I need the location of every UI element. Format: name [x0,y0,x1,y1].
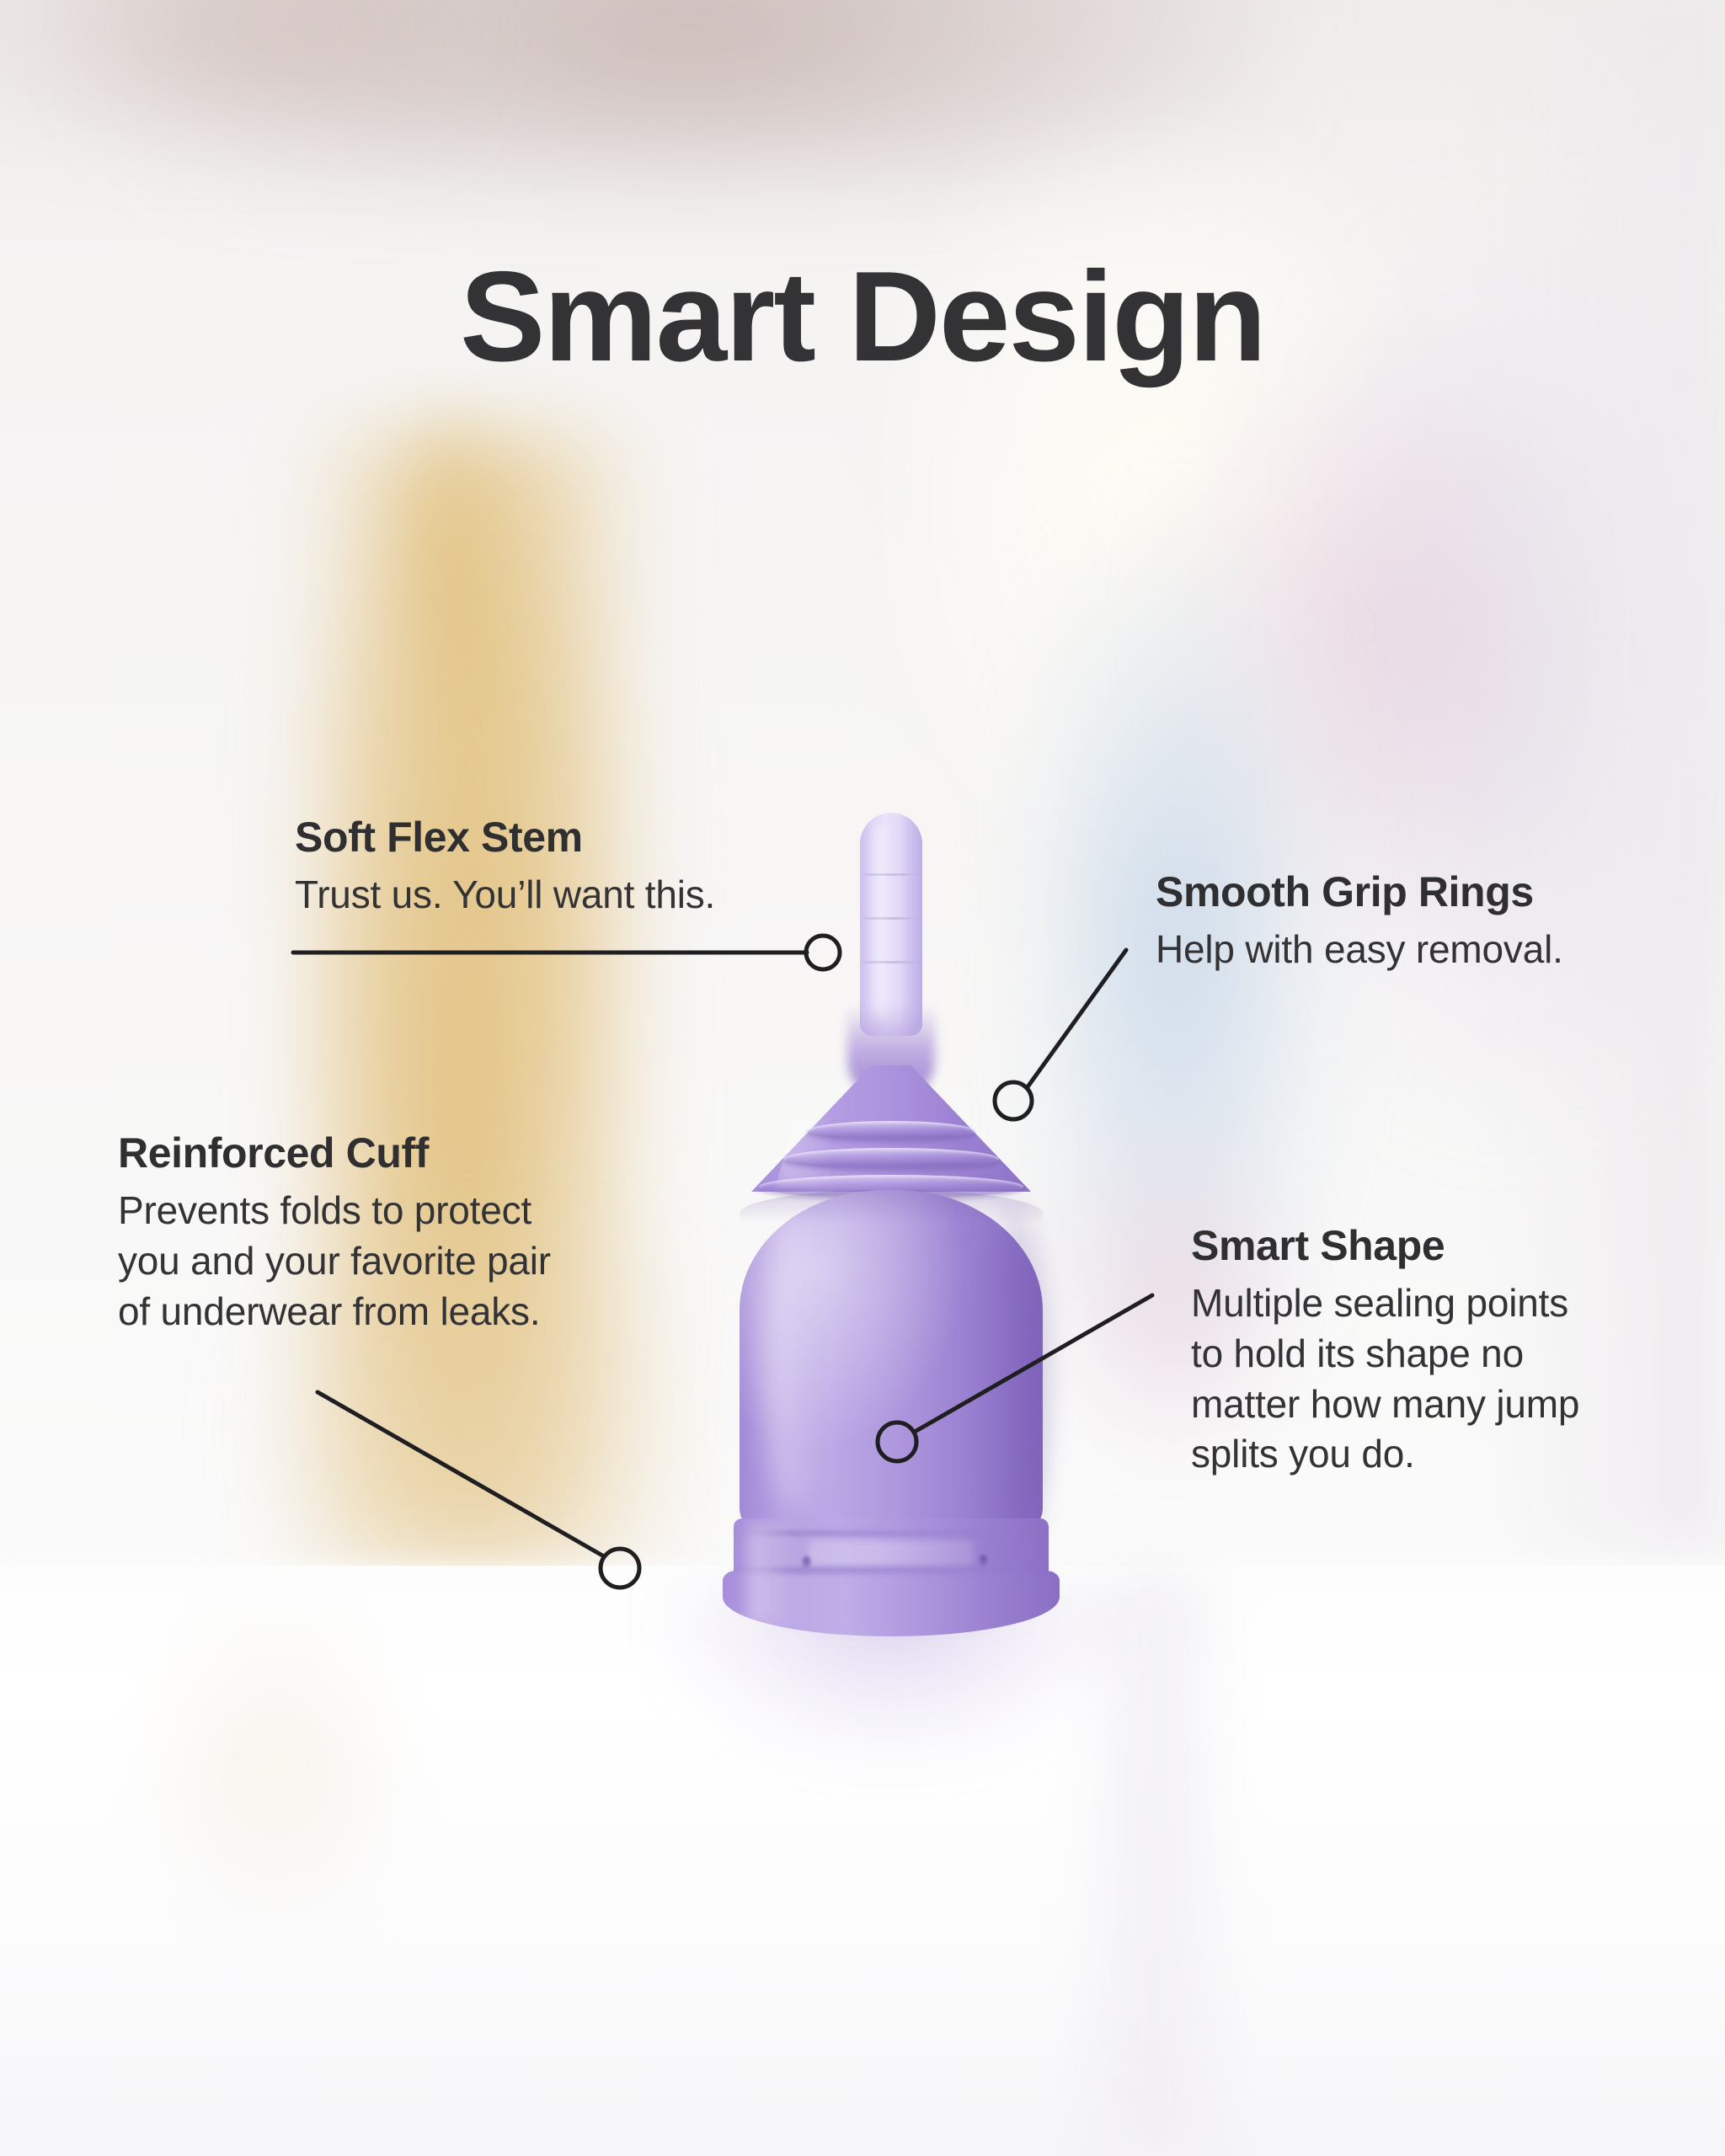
callout-reinforced-cuff: Reinforced Cuff Prevents folds to protec… [118,1129,551,1337]
callout-body-line: splits you do. [1191,1429,1579,1480]
callout-smooth-grip-rings: Smooth Grip Rings Help with easy removal… [1156,867,1563,975]
leader-line-smart-shape [915,1295,1152,1432]
callout-body-line: Help with easy removal. [1156,925,1563,975]
leader-line-smooth-grip-rings [1027,950,1126,1088]
callout-title-soft-flex-stem: Soft Flex Stem [295,813,715,862]
callout-body-reinforced-cuff: Prevents folds to protect you and your f… [118,1186,551,1337]
circle-marker-smooth-grip-rings [995,1082,1032,1119]
callout-body-line: Trust us. You’ll want this. [295,870,715,921]
callout-body-line: of underwear from leaks. [118,1287,551,1337]
circle-marker-soft-flex-stem [806,936,840,969]
callout-body-line: you and your favorite pair [118,1236,551,1287]
callout-soft-flex-stem: Soft Flex Stem Trust us. You’ll want thi… [295,813,715,921]
callout-body-line: Prevents folds to protect [118,1186,551,1236]
callout-body-smooth-grip-rings: Help with easy removal. [1156,925,1563,975]
circle-marker-smart-shape [878,1422,916,1461]
page-title: Smart Design [0,253,1725,381]
callout-body-line: matter how many jump [1191,1380,1579,1430]
callout-title-reinforced-cuff: Reinforced Cuff [118,1129,551,1177]
callout-title-smart-shape: Smart Shape [1191,1221,1579,1270]
callout-body-soft-flex-stem: Trust us. You’ll want this. [295,870,715,921]
callout-body-line: Multiple sealing points [1191,1278,1579,1329]
callout-smart-shape: Smart Shape Multiple sealing points to h… [1191,1221,1579,1480]
leader-line-reinforced-cuff [318,1392,604,1556]
circle-marker-reinforced-cuff [601,1549,639,1588]
callout-body-line: to hold its shape no [1191,1329,1579,1380]
callout-title-smooth-grip-rings: Smooth Grip Rings [1156,867,1563,916]
callout-body-smart-shape: Multiple sealing points to hold its shap… [1191,1278,1579,1480]
